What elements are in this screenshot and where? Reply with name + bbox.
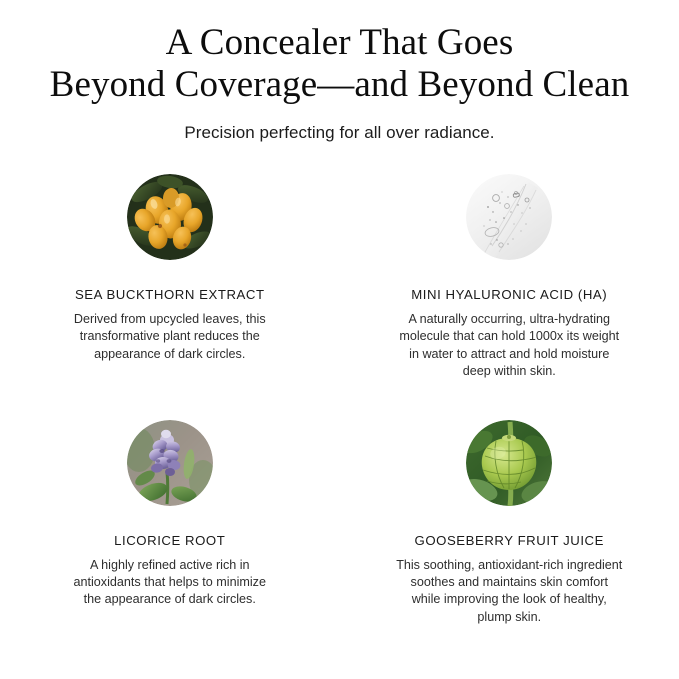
licorice-root-flower-photo — [127, 420, 213, 506]
description-line: A highly refined active rich in — [41, 557, 299, 574]
description-line: the appearance of dark circles. — [41, 591, 299, 608]
description-line: deep within skin. — [380, 363, 638, 380]
ingredient-title: LICORICE ROOT — [114, 533, 225, 548]
page-title: A Concealer That Goes Beyond Coverage—an… — [0, 22, 679, 106]
ingredient-title: SEA BUCKTHORN EXTRACT — [75, 287, 265, 302]
description-line: soothes and maintains skin comfort — [380, 574, 638, 591]
ingredient-description: This soothing, antioxidant-rich ingredie… — [380, 557, 638, 627]
sea-buckthorn-berries-photo — [127, 174, 213, 260]
description-line: molecule that can hold 1000x its weight — [380, 328, 638, 345]
description-line: This soothing, antioxidant-rich ingredie… — [380, 557, 638, 574]
ingredient-card-licorice-root: LICORICE ROOT A highly refined active ri… — [0, 414, 340, 627]
page-subtitle: Precision perfecting for all over radian… — [0, 122, 679, 144]
ingredient-description: A highly refined active rich in antioxid… — [41, 557, 299, 609]
description-line: appearance of dark circles. — [41, 346, 299, 363]
ingredient-description: Derived from upcycled leaves, this trans… — [41, 311, 299, 363]
ingredient-title: GOOSEBERRY FRUIT JUICE — [415, 533, 604, 548]
description-line: antioxidants that helps to minimize — [41, 574, 299, 591]
ingredient-card-sea-buckthorn: SEA BUCKTHORN EXTRACT Derived from upcyc… — [0, 168, 340, 381]
description-line: Derived from upcycled leaves, this — [41, 311, 299, 328]
hyaluronic-acid-gel-texture-photo — [466, 174, 552, 260]
headline-line-1: A Concealer That Goes — [0, 22, 679, 64]
description-line: while improving the look of healthy, — [380, 591, 638, 608]
gooseberry-fruit-photo — [466, 420, 552, 506]
header: A Concealer That Goes Beyond Coverage—an… — [0, 0, 679, 144]
ingredient-card-hyaluronic-acid: MINI HYALURONIC ACID (HA) A naturally oc… — [340, 168, 679, 381]
description-line: plump skin. — [380, 609, 638, 626]
ingredient-benefits-panel: A Concealer That Goes Beyond Coverage—an… — [0, 0, 679, 679]
description-line: in water to attract and hold moisture — [380, 346, 638, 363]
headline-line-2: Beyond Coverage—and Beyond Clean — [0, 64, 679, 106]
ingredient-title: MINI HYALURONIC ACID (HA) — [411, 287, 607, 302]
ingredient-card-gooseberry: GOOSEBERRY FRUIT JUICE This soothing, an… — [340, 414, 679, 627]
description-line: A naturally occurring, ultra-hydrating — [380, 311, 638, 328]
ingredient-description: A naturally occurring, ultra-hydrating m… — [380, 311, 638, 381]
ingredient-grid: SEA BUCKTHORN EXTRACT Derived from upcyc… — [0, 168, 679, 626]
description-line: transformative plant reduces the — [41, 328, 299, 345]
